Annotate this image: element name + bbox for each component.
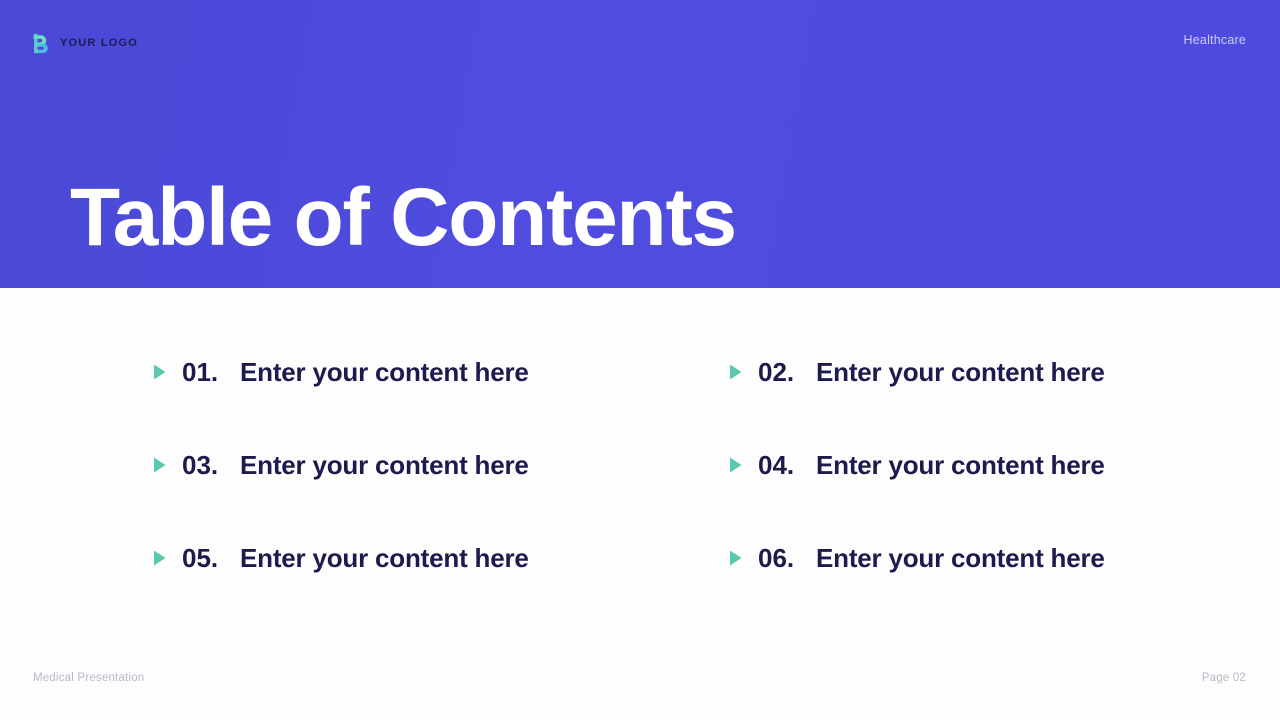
toc-item-label: Enter your content here xyxy=(816,359,1105,385)
toc-item-01[interactable]: 01. Enter your content here xyxy=(152,352,728,392)
toc-item-number: 04. xyxy=(758,452,816,478)
triangle-right-icon xyxy=(728,456,744,474)
toc-item-label: Enter your content here xyxy=(816,452,1105,478)
triangle-right-icon xyxy=(152,363,168,381)
toc-item-02[interactable]: 02. Enter your content here xyxy=(728,352,1280,392)
slide-canvas: YOUR LOGO Healthcare Table of Contents 0… xyxy=(0,0,1280,720)
toc-item-label: Enter your content here xyxy=(240,359,529,385)
toc-item-05[interactable]: 05. Enter your content here xyxy=(152,538,728,578)
toc-item-06[interactable]: 06. Enter your content here xyxy=(728,538,1280,578)
toc-item-label: Enter your content here xyxy=(240,452,529,478)
toc-item-label: Enter your content here xyxy=(816,545,1105,571)
toc-item-number: 05. xyxy=(182,545,240,571)
logo-mark-chevron-icon xyxy=(31,33,51,54)
toc-item-label: Enter your content here xyxy=(240,545,529,571)
triangle-right-icon xyxy=(152,456,168,474)
triangle-right-icon xyxy=(152,549,168,567)
triangle-right-icon xyxy=(728,549,744,567)
logo[interactable]: YOUR LOGO xyxy=(31,32,138,54)
footer-page-number: Page 02 xyxy=(1202,673,1246,685)
toc-item-03[interactable]: 03. Enter your content here xyxy=(152,445,728,485)
table-of-contents-list: 01. Enter your content here 02. Enter yo… xyxy=(0,288,1280,648)
footer-left-label: Medical Presentation xyxy=(33,673,144,685)
triangle-right-icon xyxy=(728,363,744,381)
toc-item-number: 01. xyxy=(182,359,240,385)
header-band: YOUR LOGO Healthcare Table of Contents xyxy=(0,0,1280,288)
toc-item-number: 06. xyxy=(758,545,816,571)
category-label: Healthcare xyxy=(1184,34,1246,47)
toc-item-number: 03. xyxy=(182,452,240,478)
toc-item-number: 02. xyxy=(758,359,816,385)
page-title: Table of Contents xyxy=(70,177,736,259)
logo-text: YOUR LOGO xyxy=(60,38,138,49)
toc-item-04[interactable]: 04. Enter your content here xyxy=(728,445,1280,485)
